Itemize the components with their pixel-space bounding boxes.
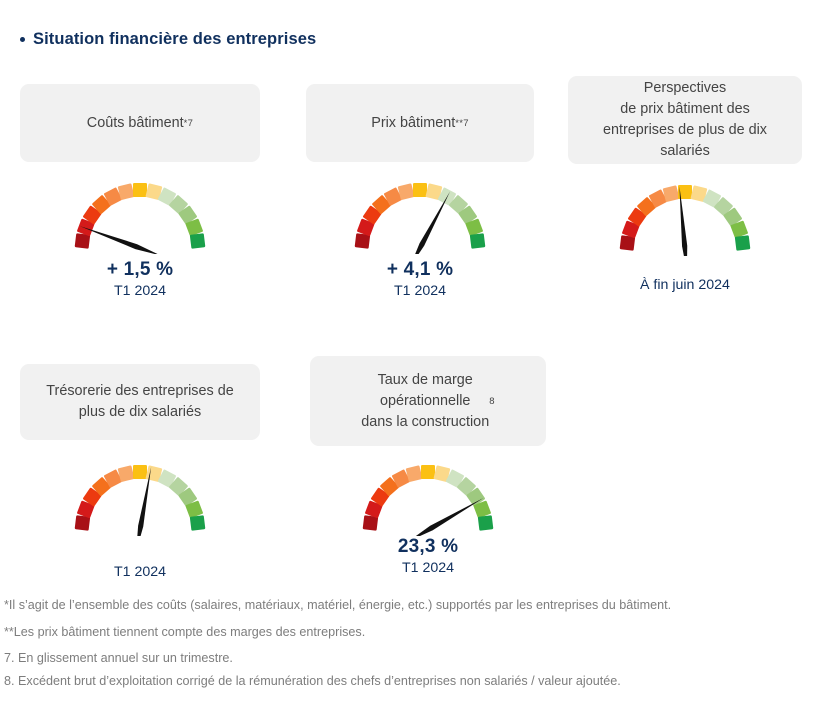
- gauge-readout: + 4,1 %T1 2024: [306, 258, 534, 301]
- page-title: Situation financière des entreprises: [20, 30, 316, 49]
- footnote-asterisk: *Il s’agit de l’ensemble des coûts (sala…: [4, 596, 804, 616]
- gauge-value: + 4,1 %: [306, 258, 534, 281]
- gauge-card-prix-batiment: Prix bâtiment **7+ 4,1 %T1 2024: [306, 84, 534, 162]
- card-title: Prix bâtiment **7: [306, 84, 534, 162]
- card-title: Trésorerie des entreprises deplus de dix…: [20, 364, 260, 440]
- card-title-text: Trésorerie des entreprises deplus de dix…: [46, 381, 233, 423]
- gauge-value: 23,3 %: [310, 535, 546, 558]
- card-title: Perspectivesde prix bâtiment desentrepri…: [568, 76, 802, 164]
- gauge-segment: [133, 465, 147, 479]
- bullet-dot-icon: [20, 37, 25, 42]
- gauge-card-couts-batiment: Coûts bâtiment *7+ 1,5 %T1 2024: [20, 84, 260, 162]
- gauge-card-tresorerie-entreprises: Trésorerie des entreprises deplus de dix…: [20, 364, 260, 440]
- gauge-segment: [190, 515, 206, 531]
- gauge-segment: [133, 183, 147, 197]
- gauge-perspectives-prix-batiment: [568, 172, 802, 256]
- gauge-card-taux-marge-operationnelle: Taux de margeopérationnelledans la const…: [310, 356, 546, 446]
- card-title-superscript: **7: [455, 113, 469, 134]
- gauge-taux-marge-operationnelle: [310, 452, 546, 536]
- gauge-segment: [190, 233, 206, 249]
- gauge-segment: [413, 183, 427, 197]
- gauge-period: T1 2024: [306, 281, 534, 301]
- gauge-tresorerie-entreprises: [20, 452, 260, 536]
- card-title: Coûts bâtiment *7: [20, 84, 260, 162]
- gauge-arc: [340, 170, 500, 254]
- gauge-readout: T1 2024: [20, 562, 260, 582]
- page-title-text: Situation financière des entreprises: [33, 30, 316, 49]
- gauge-segment: [478, 515, 494, 531]
- gauge-arc: [60, 452, 220, 536]
- gauge-arc: [60, 170, 220, 254]
- gauge-segment: [421, 465, 435, 479]
- gauge-arc: [605, 172, 765, 256]
- footnotes: *Il s’agit de l’ensemble des coûts (sala…: [4, 596, 804, 691]
- card-title-superscript: *7: [184, 113, 194, 134]
- gauge-needle: [80, 226, 161, 254]
- gauge-segment: [470, 233, 486, 249]
- gauge-readout: À fin juin 2024: [568, 275, 802, 295]
- card-title-text: Perspectivesde prix bâtiment desentrepri…: [603, 78, 767, 162]
- card-title-text: Coûts bâtiment: [87, 113, 184, 134]
- card-title-text: Prix bâtiment: [371, 113, 455, 134]
- gauge-period: T1 2024: [20, 281, 260, 301]
- footnote-8: 8. Excédent brut d’exploitation corrigé …: [4, 672, 804, 692]
- card-title-text: Taux de margeopérationnelledans la const…: [361, 370, 489, 433]
- footnote-double-asterisk: **Les prix bâtiment tiennent compte des …: [4, 623, 804, 643]
- gauge-value: + 1,5 %: [20, 258, 260, 281]
- gauge-period: À fin juin 2024: [568, 275, 802, 295]
- gauge-couts-batiment: [20, 170, 260, 254]
- card-title: Taux de margeopérationnelledans la const…: [310, 356, 546, 446]
- gauge-card-perspectives-prix-batiment: Perspectivesde prix bâtiment desentrepri…: [568, 76, 802, 164]
- gauge-readout: + 1,5 %T1 2024: [20, 258, 260, 301]
- card-title-superscript: 8: [489, 391, 495, 412]
- gauge-prix-batiment: [306, 170, 534, 254]
- gauge-period: T1 2024: [20, 562, 260, 582]
- gauge-period: T1 2024: [310, 558, 546, 578]
- footnote-7: 7. En glissement annuel sur un trimestre…: [4, 649, 804, 669]
- gauge-segment: [735, 235, 751, 251]
- gauge-arc: [348, 452, 508, 536]
- gauge-readout: 23,3 %T1 2024: [310, 535, 546, 578]
